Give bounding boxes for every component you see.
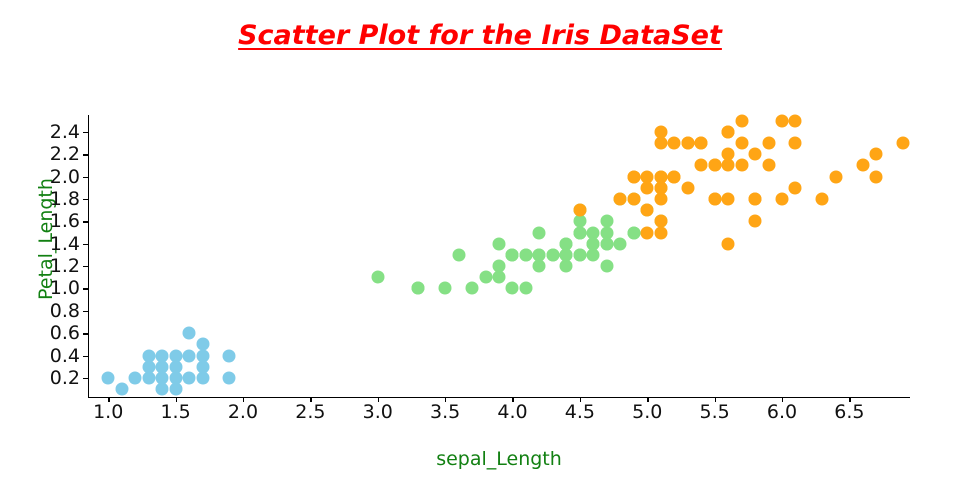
scatter-point — [722, 192, 735, 205]
x-axis-tick — [512, 397, 513, 402]
y-axis-tick — [83, 311, 88, 312]
scatter-point — [183, 327, 196, 340]
x-tick-label: 3.0 — [363, 401, 393, 423]
scatter-point — [129, 371, 142, 384]
scatter-point — [493, 260, 506, 273]
scatter-point — [627, 170, 640, 183]
plot-area — [88, 115, 910, 397]
y-axis-tick — [83, 333, 88, 334]
scatter-point — [142, 371, 155, 384]
scatter-point — [708, 192, 721, 205]
scatter-point — [560, 260, 573, 273]
scatter-point — [587, 248, 600, 261]
scatter-point — [668, 170, 681, 183]
scatter-point — [156, 360, 169, 373]
scatter-point — [169, 383, 182, 396]
scatter-point — [722, 237, 735, 250]
scatter-point — [749, 148, 762, 161]
x-axis-tick — [445, 397, 446, 402]
y-tick-label: 2.4 — [50, 121, 80, 143]
scatter-point — [156, 383, 169, 396]
x-axis-tick — [580, 397, 581, 402]
scatter-point — [466, 282, 479, 295]
y-tick-label: 1.8 — [50, 188, 80, 210]
scatter-point — [573, 204, 586, 217]
scatter-point — [371, 271, 384, 284]
scatter-point — [681, 136, 694, 149]
scatter-point — [600, 237, 613, 250]
scatter-point — [519, 248, 532, 261]
scatter-point — [546, 248, 559, 261]
x-tick-label-group: 1.01.52.02.53.03.54.04.55.05.56.06.5 — [88, 401, 910, 429]
x-tick-label: 6.5 — [834, 401, 864, 423]
y-axis-tick — [83, 266, 88, 267]
scatter-point — [573, 226, 586, 239]
y-tick-label: 1.4 — [50, 233, 80, 255]
scatter-point — [735, 159, 748, 172]
scatter-point — [722, 159, 735, 172]
scatter-point — [169, 360, 182, 373]
scatter-point — [789, 114, 802, 127]
scatter-point — [641, 204, 654, 217]
scatter-point — [897, 136, 910, 149]
scatter-point — [156, 371, 169, 384]
y-tick-label: 1.6 — [50, 210, 80, 232]
scatter-point — [183, 371, 196, 384]
scatter-point — [169, 371, 182, 384]
scatter-point — [775, 114, 788, 127]
scatter-point — [156, 349, 169, 362]
x-tick-label: 5.0 — [632, 401, 662, 423]
y-tick-label: 1.0 — [50, 277, 80, 299]
scatter-point — [654, 226, 667, 239]
y-tick-label-group: 0.20.40.60.81.01.21.41.61.82.02.22.4 — [0, 115, 80, 397]
scatter-point — [856, 159, 869, 172]
x-axis-tick — [108, 397, 109, 402]
scatter-point — [695, 136, 708, 149]
scatter-chart-figure: Scatter Plot for the Iris DataSet Petal_… — [0, 0, 960, 500]
x-tick-label: 6.0 — [767, 401, 797, 423]
y-axis-tick — [83, 356, 88, 357]
y-axis-tick — [83, 132, 88, 133]
x-tick-label: 5.5 — [699, 401, 729, 423]
x-axis-tick — [782, 397, 783, 402]
scatter-point — [654, 181, 667, 194]
scatter-point — [519, 282, 532, 295]
scatter-point — [439, 282, 452, 295]
scatter-point — [681, 181, 694, 194]
y-tick-label: 1.2 — [50, 255, 80, 277]
y-axis-line — [88, 115, 89, 397]
scatter-point — [870, 148, 883, 161]
scatter-point — [600, 260, 613, 273]
x-axis-tick — [715, 397, 716, 402]
scatter-point — [762, 159, 775, 172]
scatter-point — [722, 148, 735, 161]
scatter-point — [708, 159, 721, 172]
scatter-point — [533, 260, 546, 273]
scatter-point — [749, 215, 762, 228]
x-tick-label: 1.0 — [93, 401, 123, 423]
x-tick-label: 3.5 — [430, 401, 460, 423]
scatter-point — [223, 349, 236, 362]
scatter-point — [735, 136, 748, 149]
y-tick-label: 0.8 — [50, 300, 80, 322]
scatter-point — [169, 349, 182, 362]
scatter-point — [142, 349, 155, 362]
x-axis-tick — [378, 397, 379, 402]
scatter-point — [668, 136, 681, 149]
x-axis-line — [88, 397, 910, 398]
scatter-point — [762, 136, 775, 149]
y-tick-label: 0.6 — [50, 322, 80, 344]
y-tick-label: 0.2 — [50, 367, 80, 389]
scatter-point — [479, 271, 492, 284]
scatter-point — [870, 170, 883, 183]
scatter-point — [506, 282, 519, 295]
x-axis-tick — [647, 397, 648, 402]
scatter-point — [573, 248, 586, 261]
scatter-point — [641, 181, 654, 194]
scatter-point — [654, 136, 667, 149]
scatter-point — [587, 237, 600, 250]
scatter-point — [722, 125, 735, 138]
scatter-point — [614, 192, 627, 205]
scatter-point — [533, 248, 546, 261]
scatter-point — [654, 215, 667, 228]
x-axis-label: sepal_Length — [88, 448, 910, 470]
x-tick-label: 2.5 — [295, 401, 325, 423]
scatter-point — [789, 136, 802, 149]
scatter-point — [749, 192, 762, 205]
x-axis-tick — [243, 397, 244, 402]
y-tick-label: 0.4 — [50, 345, 80, 367]
scatter-point — [412, 282, 425, 295]
scatter-point — [142, 360, 155, 373]
scatter-point — [816, 192, 829, 205]
scatter-point — [533, 226, 546, 239]
x-axis-tick — [849, 397, 850, 402]
x-tick-label: 2.0 — [228, 401, 258, 423]
scatter-point — [196, 371, 209, 384]
scatter-point — [641, 226, 654, 239]
scatter-point — [600, 215, 613, 228]
scatter-point — [627, 226, 640, 239]
scatter-point — [614, 237, 627, 250]
scatter-point — [223, 371, 236, 384]
y-axis-tick — [83, 177, 88, 178]
y-axis-tick — [83, 154, 88, 155]
x-tick-label: 1.5 — [160, 401, 190, 423]
scatter-point — [641, 170, 654, 183]
y-axis-tick — [83, 244, 88, 245]
scatter-point — [775, 192, 788, 205]
y-tick-label: 2.0 — [50, 166, 80, 188]
scatter-point — [695, 159, 708, 172]
chart-title: Scatter Plot for the Iris DataSet — [0, 20, 960, 51]
scatter-point — [183, 349, 196, 362]
scatter-point — [829, 170, 842, 183]
y-axis-tick — [83, 221, 88, 222]
scatter-point — [196, 360, 209, 373]
y-tick-label: 2.2 — [50, 143, 80, 165]
y-axis-tick — [83, 288, 88, 289]
x-tick-label: 4.5 — [565, 401, 595, 423]
y-axis-tick — [83, 199, 88, 200]
x-tick-label: 4.0 — [497, 401, 527, 423]
scatter-point — [196, 338, 209, 351]
scatter-point — [654, 125, 667, 138]
x-axis-tick — [310, 397, 311, 402]
scatter-point — [627, 192, 640, 205]
scatter-point — [654, 192, 667, 205]
scatter-point — [560, 248, 573, 261]
scatter-point — [493, 271, 506, 284]
scatter-point — [115, 383, 128, 396]
x-axis-tick — [176, 397, 177, 402]
scatter-point — [735, 114, 748, 127]
scatter-point — [506, 248, 519, 261]
y-axis-tick — [83, 378, 88, 379]
scatter-point — [196, 349, 209, 362]
scatter-point — [452, 248, 465, 261]
scatter-point — [789, 181, 802, 194]
scatter-point — [493, 237, 506, 250]
scatter-point — [102, 371, 115, 384]
